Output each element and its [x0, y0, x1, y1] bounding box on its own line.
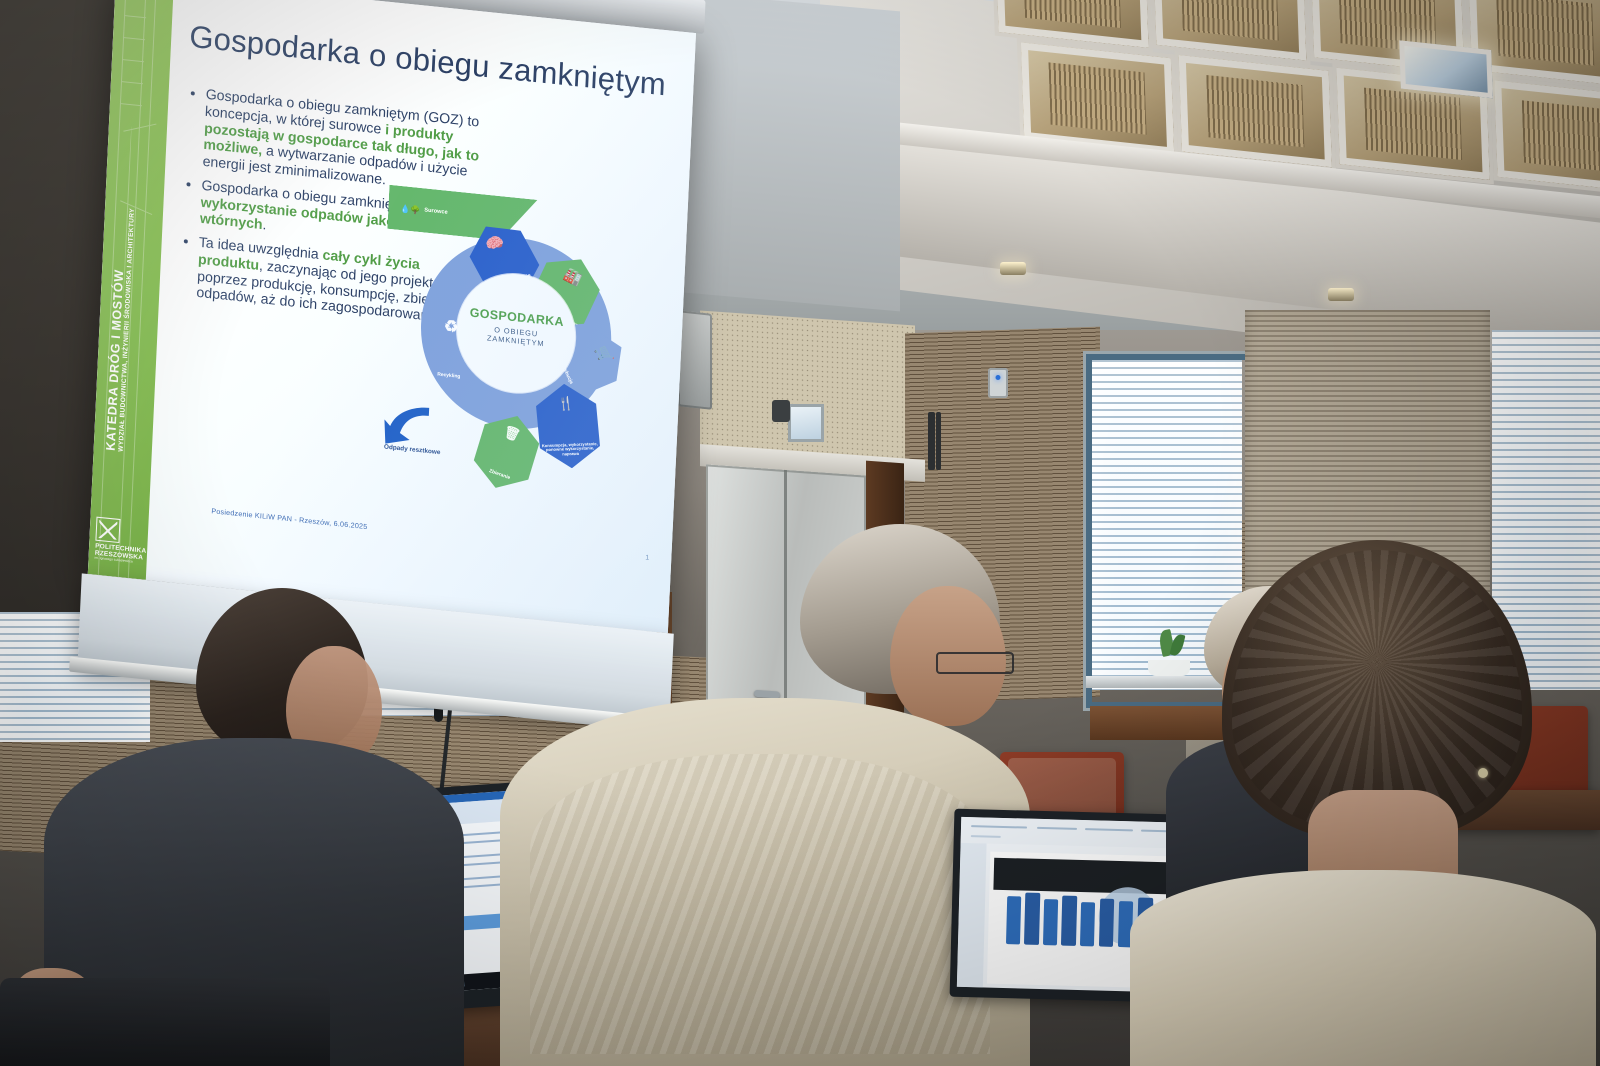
screenshot-root: KATEDRA DRÓG I MOSTÓW WYDZIAŁ BUDOWNICTW… [0, 0, 1600, 1066]
wall-speaker [678, 310, 712, 410]
slide-thumbnail-pane[interactable] [957, 843, 987, 988]
waste-bin-icon: 🗑 [502, 423, 522, 443]
wall-mount-bracket [928, 412, 935, 470]
fork-knife-icon: 🍴 [557, 395, 575, 411]
attendee-right-earring [1478, 768, 1488, 778]
wheel-segment-label: Konsumpcja, wykorzystanie, ponowne wykor… [537, 441, 603, 458]
wheel-hub-text: GOSPODARKA O OBIEGU ZAMKNIĘTYM [457, 304, 577, 351]
attendee-center-shirt-folds [530, 754, 990, 1054]
attendee-center [470, 524, 1030, 1066]
wall-mount-bracket [936, 412, 941, 470]
attendee-right-torso [1130, 870, 1596, 1066]
wheel-segment-label: Zbieranie [469, 463, 529, 489]
ceiling-projector [788, 404, 824, 442]
ceiling-light-fixture [1399, 40, 1493, 98]
wall-sensor-box [988, 368, 1008, 398]
wheel-segment-label: Recykling [421, 371, 476, 382]
downlight [1328, 288, 1354, 301]
slide-footer: Posiedzenie KILiW PAN - Rzeszów, 6.06.20… [211, 506, 368, 531]
curved-arrow-icon [383, 401, 431, 450]
attendee-center-glasses [936, 652, 1014, 674]
attendee-right [1126, 540, 1596, 1066]
shopping-cart-icon: 🛒 [593, 343, 615, 365]
inputs-label: Surowce [424, 207, 448, 215]
water-drop-tree-icon: 💧🌳 [400, 203, 420, 214]
factory-tree-icon: 🏭 [562, 265, 585, 288]
foreground-chair-back [0, 978, 330, 1066]
bullet-text: . [262, 216, 267, 232]
circular-economy-diagram: 💧🌳 Surowce 🧠 Projektowanie 🏭 Produkcja, … [389, 186, 644, 520]
university-logo-mark [95, 516, 120, 542]
university-logo: POLITECHNIKA RZESZOWSKA im. Ignacego Łuk… [94, 516, 142, 565]
brain-idea-icon: 🧠 [483, 232, 508, 256]
downlight [1000, 262, 1026, 275]
projector-mount [772, 400, 790, 422]
perforated-acoustic-panel [700, 310, 915, 465]
